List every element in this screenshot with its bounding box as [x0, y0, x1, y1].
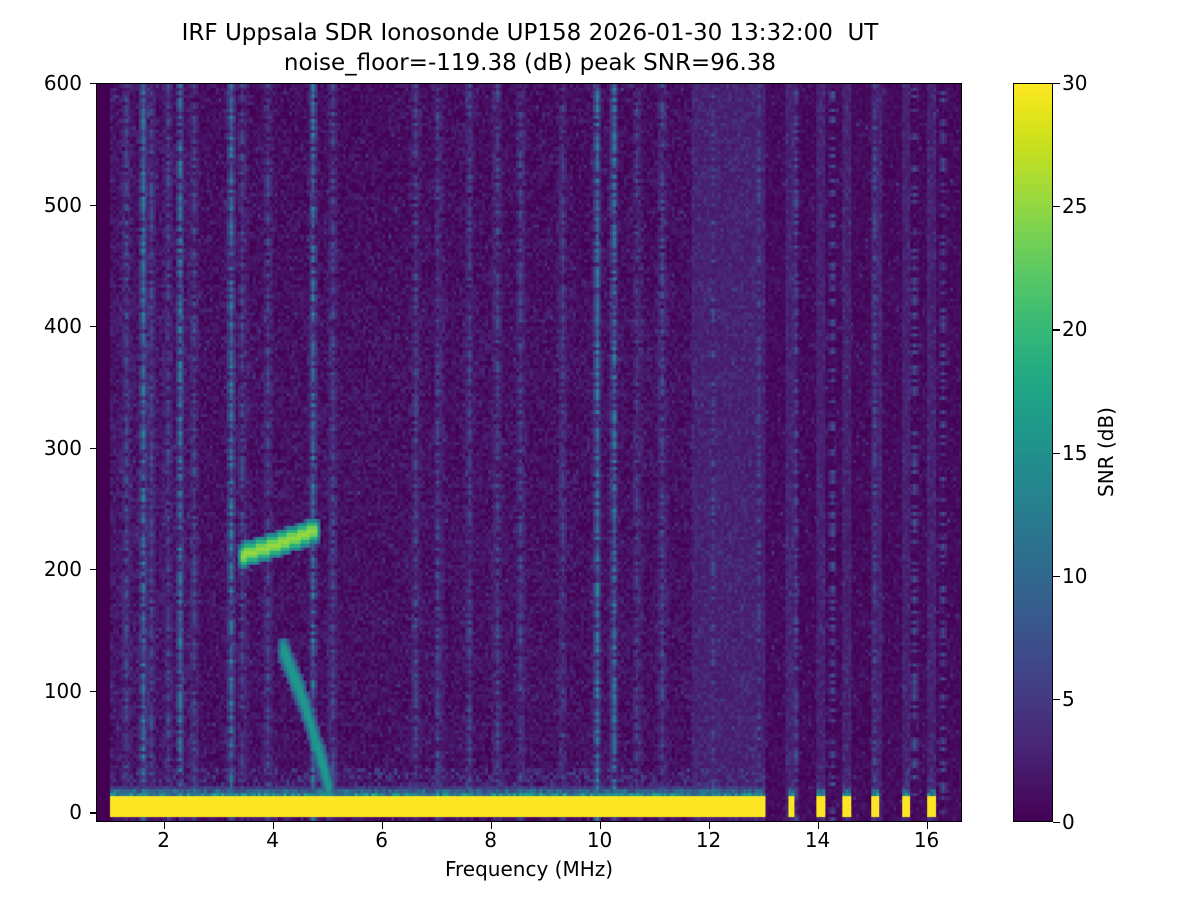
- y-tick-mark: [90, 326, 97, 327]
- y-tick-label: 400: [44, 314, 82, 338]
- colorbar-tick-label: 30: [1062, 71, 1087, 95]
- y-tick-label: 100: [44, 679, 82, 703]
- y-tick-label: 500: [44, 193, 82, 217]
- x-tick-mark: [600, 822, 601, 829]
- y-tick-mark: [90, 812, 97, 813]
- colorbar-tick-mark: [1053, 699, 1060, 700]
- x-tick-label: 8: [484, 828, 497, 852]
- y-tick-label: 200: [44, 557, 82, 581]
- y-tick-mark: [90, 448, 97, 449]
- x-tick-mark: [164, 822, 165, 829]
- colorbar-tick-mark: [1053, 453, 1060, 454]
- colorbar-tick-label: 15: [1062, 441, 1087, 465]
- x-tick-mark: [273, 822, 274, 829]
- y-tick-label: 600: [44, 71, 82, 95]
- colorbar-gradient: [1014, 84, 1052, 821]
- y-tick-mark: [90, 205, 97, 206]
- colorbar-tick-label: 5: [1062, 687, 1075, 711]
- x-tick-label: 4: [266, 828, 279, 852]
- x-tick-label: 14: [805, 828, 830, 852]
- colorbar-tick-mark: [1053, 83, 1060, 84]
- y-tick-mark: [90, 691, 97, 692]
- colorbar-tick-mark: [1053, 822, 1060, 823]
- x-tick-mark: [382, 822, 383, 829]
- x-tick-label: 12: [696, 828, 721, 852]
- ionogram-plot-area: [96, 83, 962, 822]
- colorbar-tick-label: 25: [1062, 194, 1087, 218]
- colorbar-label: SNR (dB): [1094, 407, 1118, 497]
- y-tick-mark: [90, 569, 97, 570]
- x-tick-label: 2: [157, 828, 170, 852]
- x-tick-mark: [818, 822, 819, 829]
- y-tick-label: 300: [44, 436, 82, 460]
- colorbar-tick-label: 0: [1062, 810, 1075, 834]
- colorbar-tick-mark: [1053, 329, 1060, 330]
- title-line-2: noise_floor=-119.38 (dB) peak SNR=96.38: [0, 48, 1060, 78]
- x-tick-label: 10: [587, 828, 612, 852]
- x-tick-label: 6: [375, 828, 388, 852]
- figure-title: IRF Uppsala SDR Ionosonde UP158 2026-01-…: [0, 18, 1060, 78]
- colorbar: [1013, 83, 1053, 822]
- x-tick-mark: [709, 822, 710, 829]
- colorbar-tick-label: 10: [1062, 564, 1087, 588]
- colorbar-tick-mark: [1053, 576, 1060, 577]
- colorbar-tick-label: 20: [1062, 317, 1087, 341]
- title-line-1: IRF Uppsala SDR Ionosonde UP158 2026-01-…: [0, 18, 1060, 48]
- y-tick-mark: [90, 83, 97, 84]
- ionogram-figure: IRF Uppsala SDR Ionosonde UP158 2026-01-…: [0, 0, 1200, 900]
- ionogram-heatmap: [97, 84, 961, 821]
- colorbar-tick-mark: [1053, 206, 1060, 207]
- x-axis-label: Frequency (MHz): [445, 857, 613, 881]
- x-tick-mark: [927, 822, 928, 829]
- x-tick-label: 16: [914, 828, 939, 852]
- x-tick-mark: [491, 822, 492, 829]
- y-tick-label: 0: [69, 800, 82, 824]
